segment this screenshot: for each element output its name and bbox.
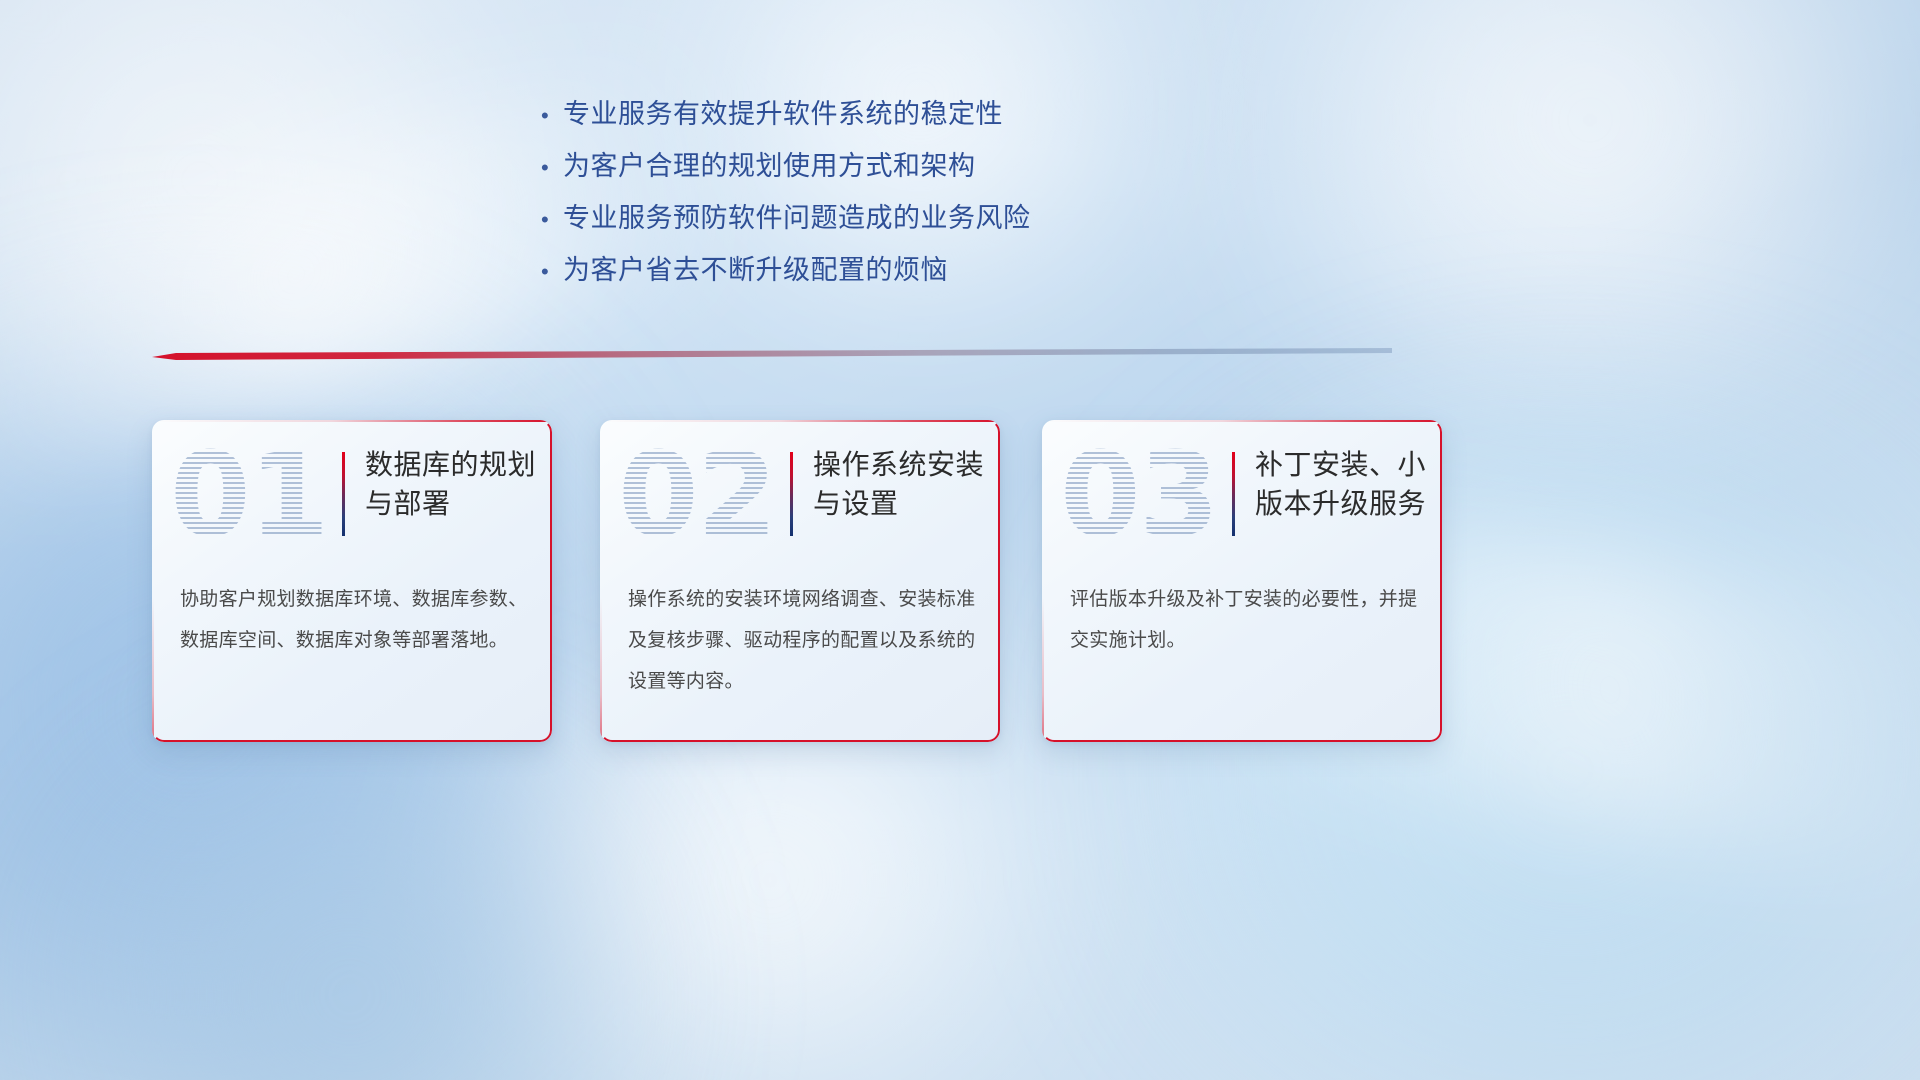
card-title-group: 数据库的规划 与部署 — [342, 446, 536, 536]
list-item: • 为客户合理的规划使用方式和架构 — [535, 144, 1155, 196]
service-card-01[interactable]: 01 数据库的规划 与部署 协助客户规划数据库环境、数据库参数、数据库空间、数据… — [152, 420, 552, 742]
card-ghost-number: 02 — [618, 438, 775, 554]
card-title-line-2: 版本升级服务 — [1255, 485, 1426, 524]
card-divider-bar — [1232, 452, 1235, 536]
card-ghost-number: 01 — [170, 438, 327, 554]
divider-shape-icon — [152, 348, 1392, 364]
card-divider-bar — [790, 452, 793, 536]
card-body-text: 协助客户规划数据库环境、数据库参数、数据库空间、数据库对象等部署落地。 — [180, 580, 528, 662]
card-title-line-1: 操作系统安装 — [813, 446, 984, 485]
card-body-text: 操作系统的安装环境网络调查、安装标准及复核步骤、驱动程序的配置以及系统的设置等内… — [628, 580, 976, 703]
benefits-bullet-list: • 专业服务有效提升软件系统的稳定性 • 为客户合理的规划使用方式和架构 • 专… — [535, 92, 1155, 300]
card-title: 补丁安装、小 版本升级服务 — [1255, 446, 1426, 523]
list-item: • 专业服务预防软件问题造成的业务风险 — [535, 196, 1155, 248]
card-title: 操作系统安装 与设置 — [813, 446, 984, 523]
card-title-group: 操作系统安装 与设置 — [790, 446, 984, 536]
bullet-dot-icon: • — [535, 261, 563, 283]
bullet-dot-icon: • — [535, 209, 563, 231]
service-card-03[interactable]: 03 补丁安装、小 版本升级服务 评估版本升级及补丁安装的必要性，并提交实施计划… — [1042, 420, 1442, 742]
card-header: 03 补丁安装、小 版本升级服务 — [1042, 420, 1442, 568]
card-body-text: 评估版本升级及补丁安装的必要性，并提交实施计划。 — [1070, 580, 1418, 662]
card-title-line-2: 与部署 — [365, 485, 536, 524]
card-header: 02 操作系统安装 与设置 — [600, 420, 1000, 568]
card-header: 01 数据库的规划 与部署 — [152, 420, 552, 568]
bullet-text: 专业服务有效提升软件系统的稳定性 — [563, 92, 1003, 131]
card-title-line-1: 数据库的规划 — [365, 446, 536, 485]
card-title-line-2: 与设置 — [813, 485, 984, 524]
list-item: • 为客户省去不断升级配置的烦恼 — [535, 248, 1155, 300]
card-ghost-number: 03 — [1060, 438, 1217, 554]
card-title-group: 补丁安装、小 版本升级服务 — [1232, 446, 1426, 536]
card-title-line-1: 补丁安装、小 — [1255, 446, 1426, 485]
service-cards-row: 01 数据库的规划 与部署 协助客户规划数据库环境、数据库参数、数据库空间、数据… — [0, 420, 1920, 750]
card-divider-bar — [342, 452, 345, 536]
list-item: • 专业服务有效提升软件系统的稳定性 — [535, 92, 1155, 144]
bullet-text: 专业服务预防软件问题造成的业务风险 — [563, 196, 1031, 235]
bullet-dot-icon: • — [535, 157, 563, 179]
bullet-text: 为客户省去不断升级配置的烦恼 — [563, 248, 948, 287]
red-tapered-divider — [152, 348, 1392, 364]
bullet-dot-icon: • — [535, 105, 563, 127]
card-title: 数据库的规划 与部署 — [365, 446, 536, 523]
bullet-text: 为客户合理的规划使用方式和架构 — [563, 144, 976, 183]
service-card-02[interactable]: 02 操作系统安装 与设置 操作系统的安装环境网络调查、安装标准及复核步骤、驱动… — [600, 420, 1000, 742]
